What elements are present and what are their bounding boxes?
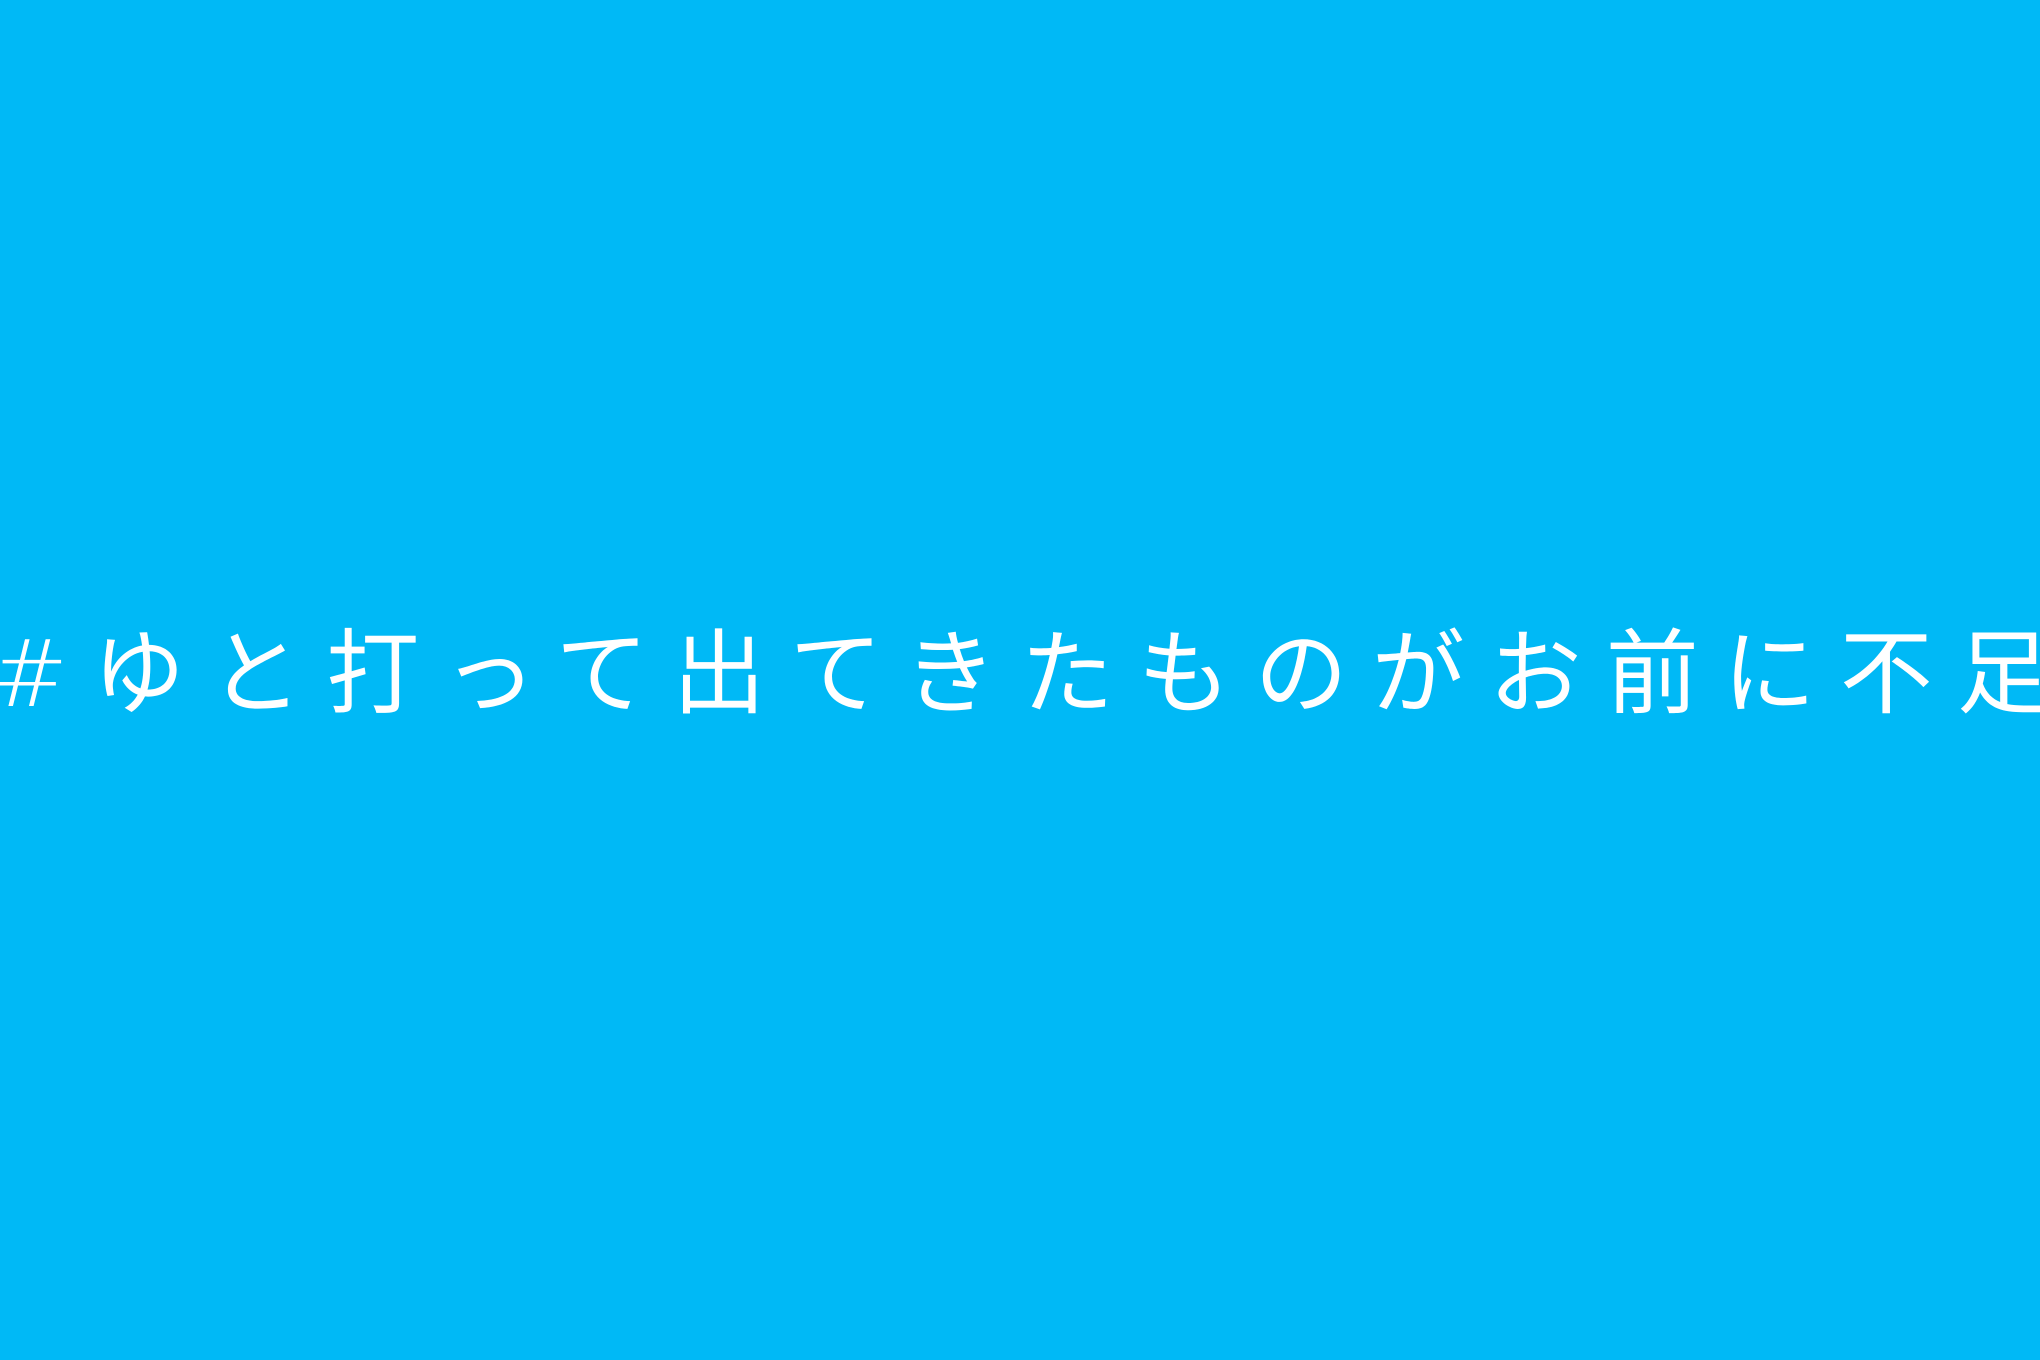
caption-text: #ゆと打って出てきたものがお前に不足 [0,623,2040,725]
image-canvas: #ゆと打って出てきたものがお前に不足 [0,0,2040,1360]
caption-block: #ゆと打って出てきたものがお前に不足 [0,623,2040,725]
